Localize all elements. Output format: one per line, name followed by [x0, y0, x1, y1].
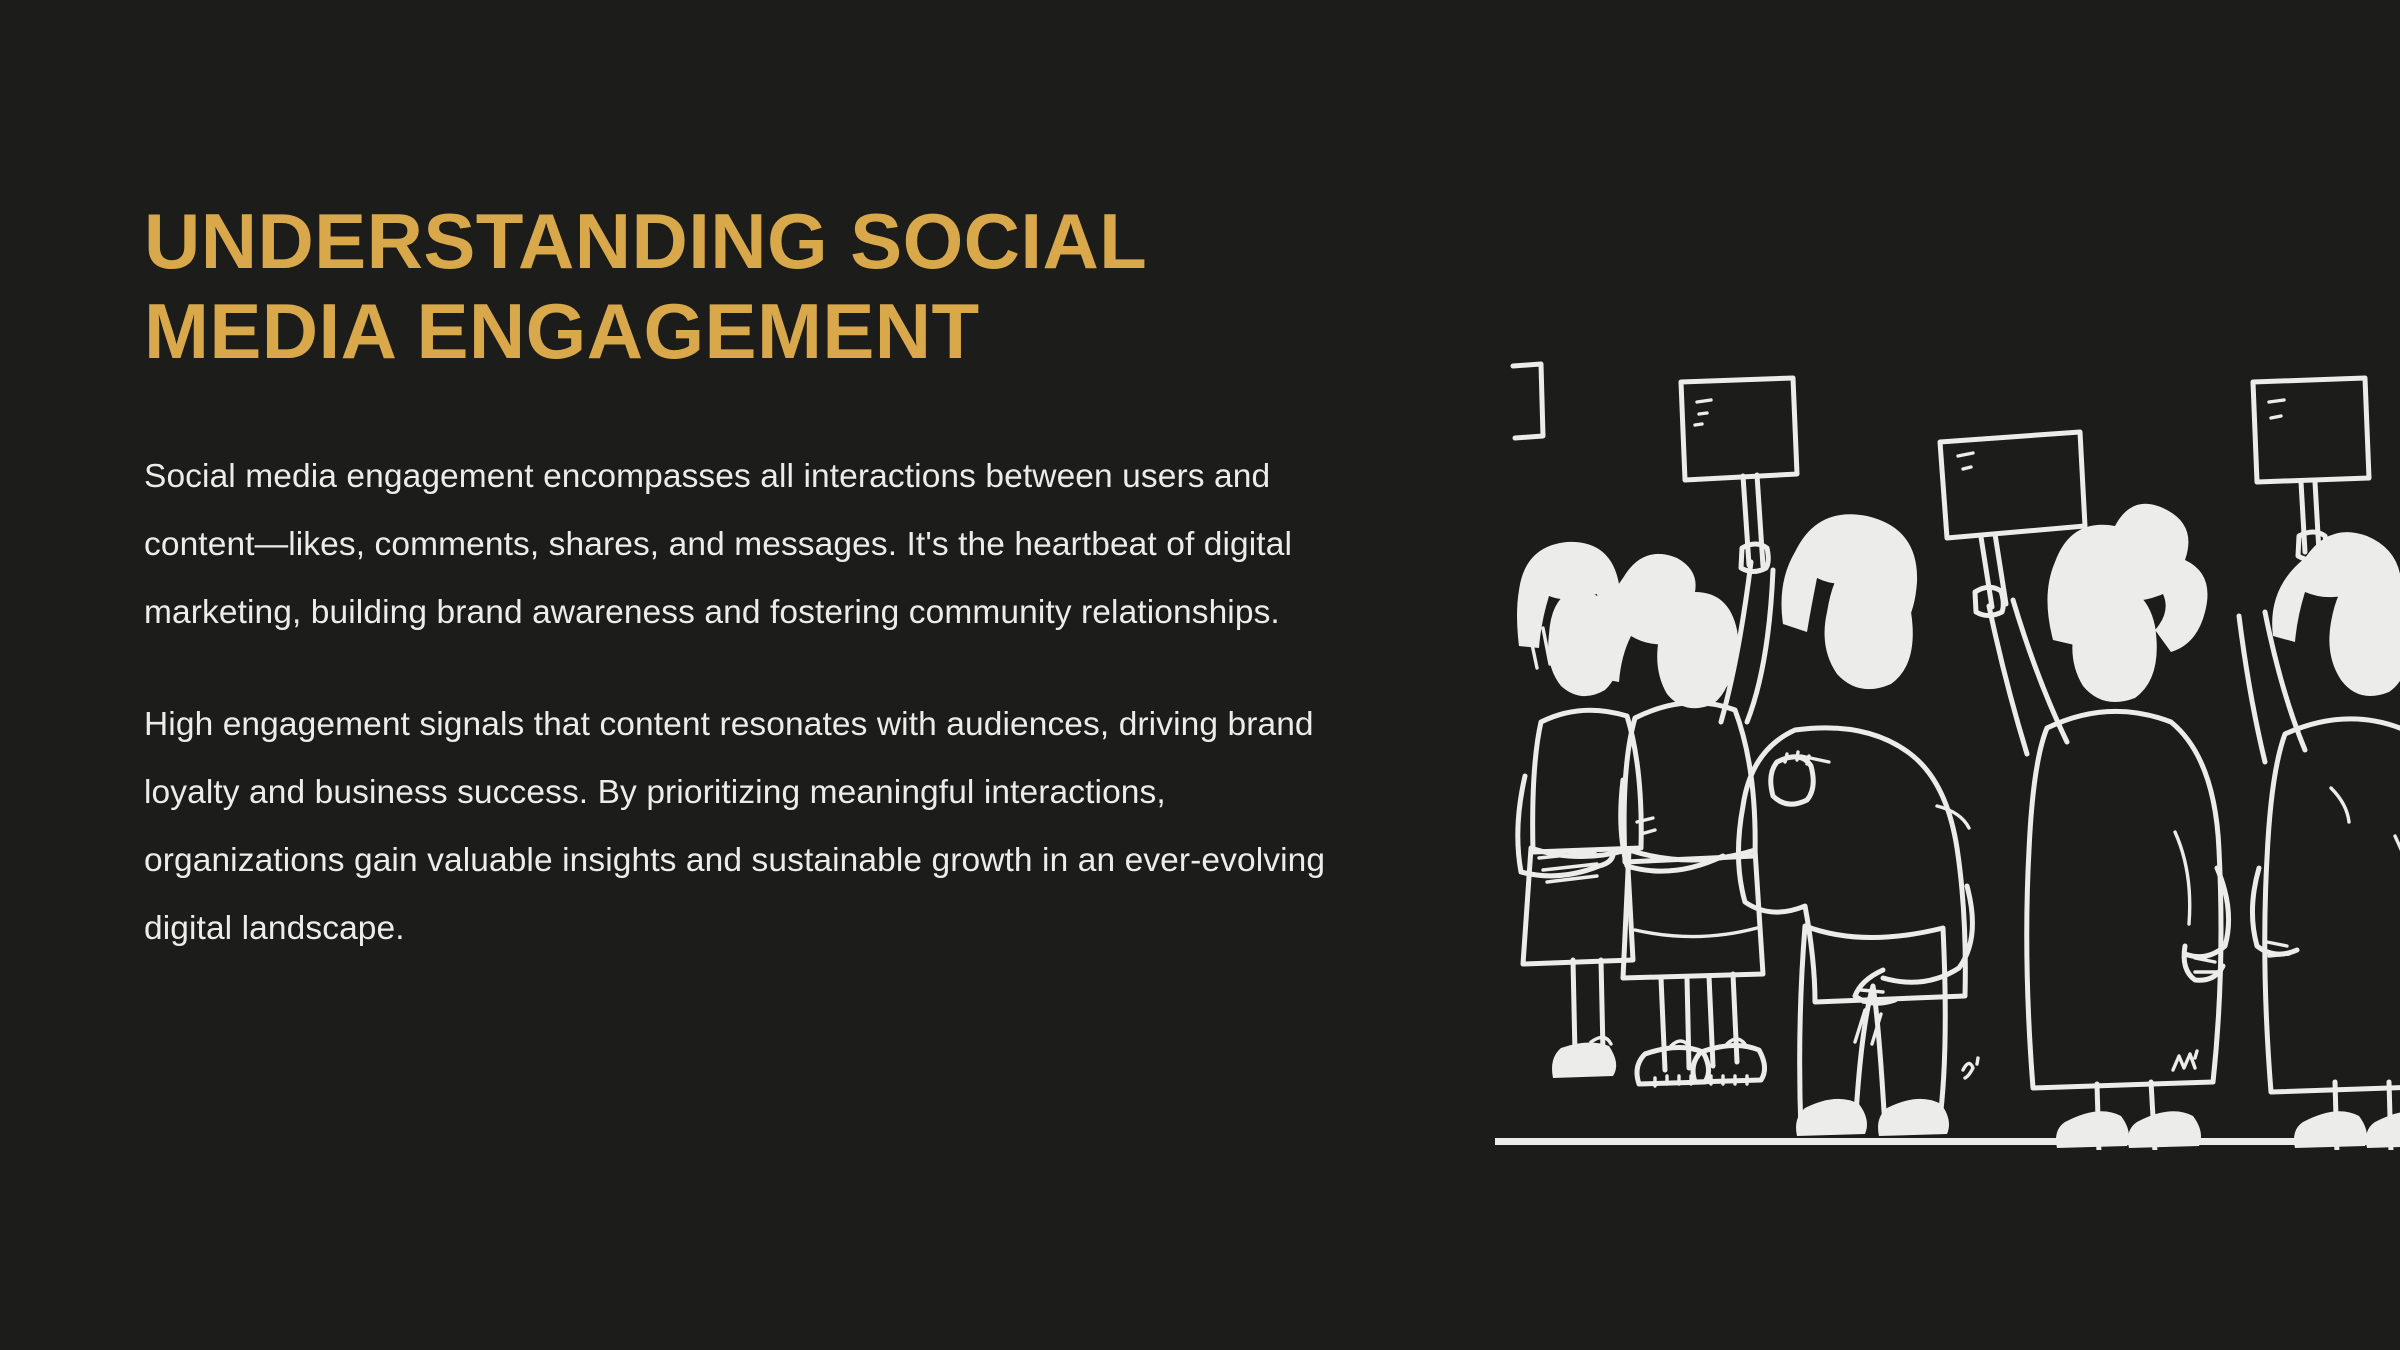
body-paragraph-2: High engagement signals that content res… [144, 691, 1334, 963]
text-content-column: UNDERSTANDING SOCIAL MEDIA ENGAGEMENT So… [144, 196, 1334, 963]
slide-canvas: UNDERSTANDING SOCIAL MEDIA ENGAGEMENT So… [0, 0, 2400, 1350]
page-title-line-1: UNDERSTANDING SOCIAL [144, 196, 1334, 286]
crowd-illustration-svg: .ink { fill: #ececeb; } .bg { fill: #1c1… [1495, 330, 2400, 1150]
page-title: UNDERSTANDING SOCIAL MEDIA ENGAGEMENT [144, 196, 1334, 377]
page-title-line-2: MEDIA ENGAGEMENT [144, 286, 1334, 376]
crowd-illustration: .ink { fill: #ececeb; } .bg { fill: #1c1… [1495, 330, 2400, 1150]
body-paragraph-1: Social media engagement encompasses all … [144, 443, 1334, 647]
ground-line [1495, 1138, 2400, 1145]
